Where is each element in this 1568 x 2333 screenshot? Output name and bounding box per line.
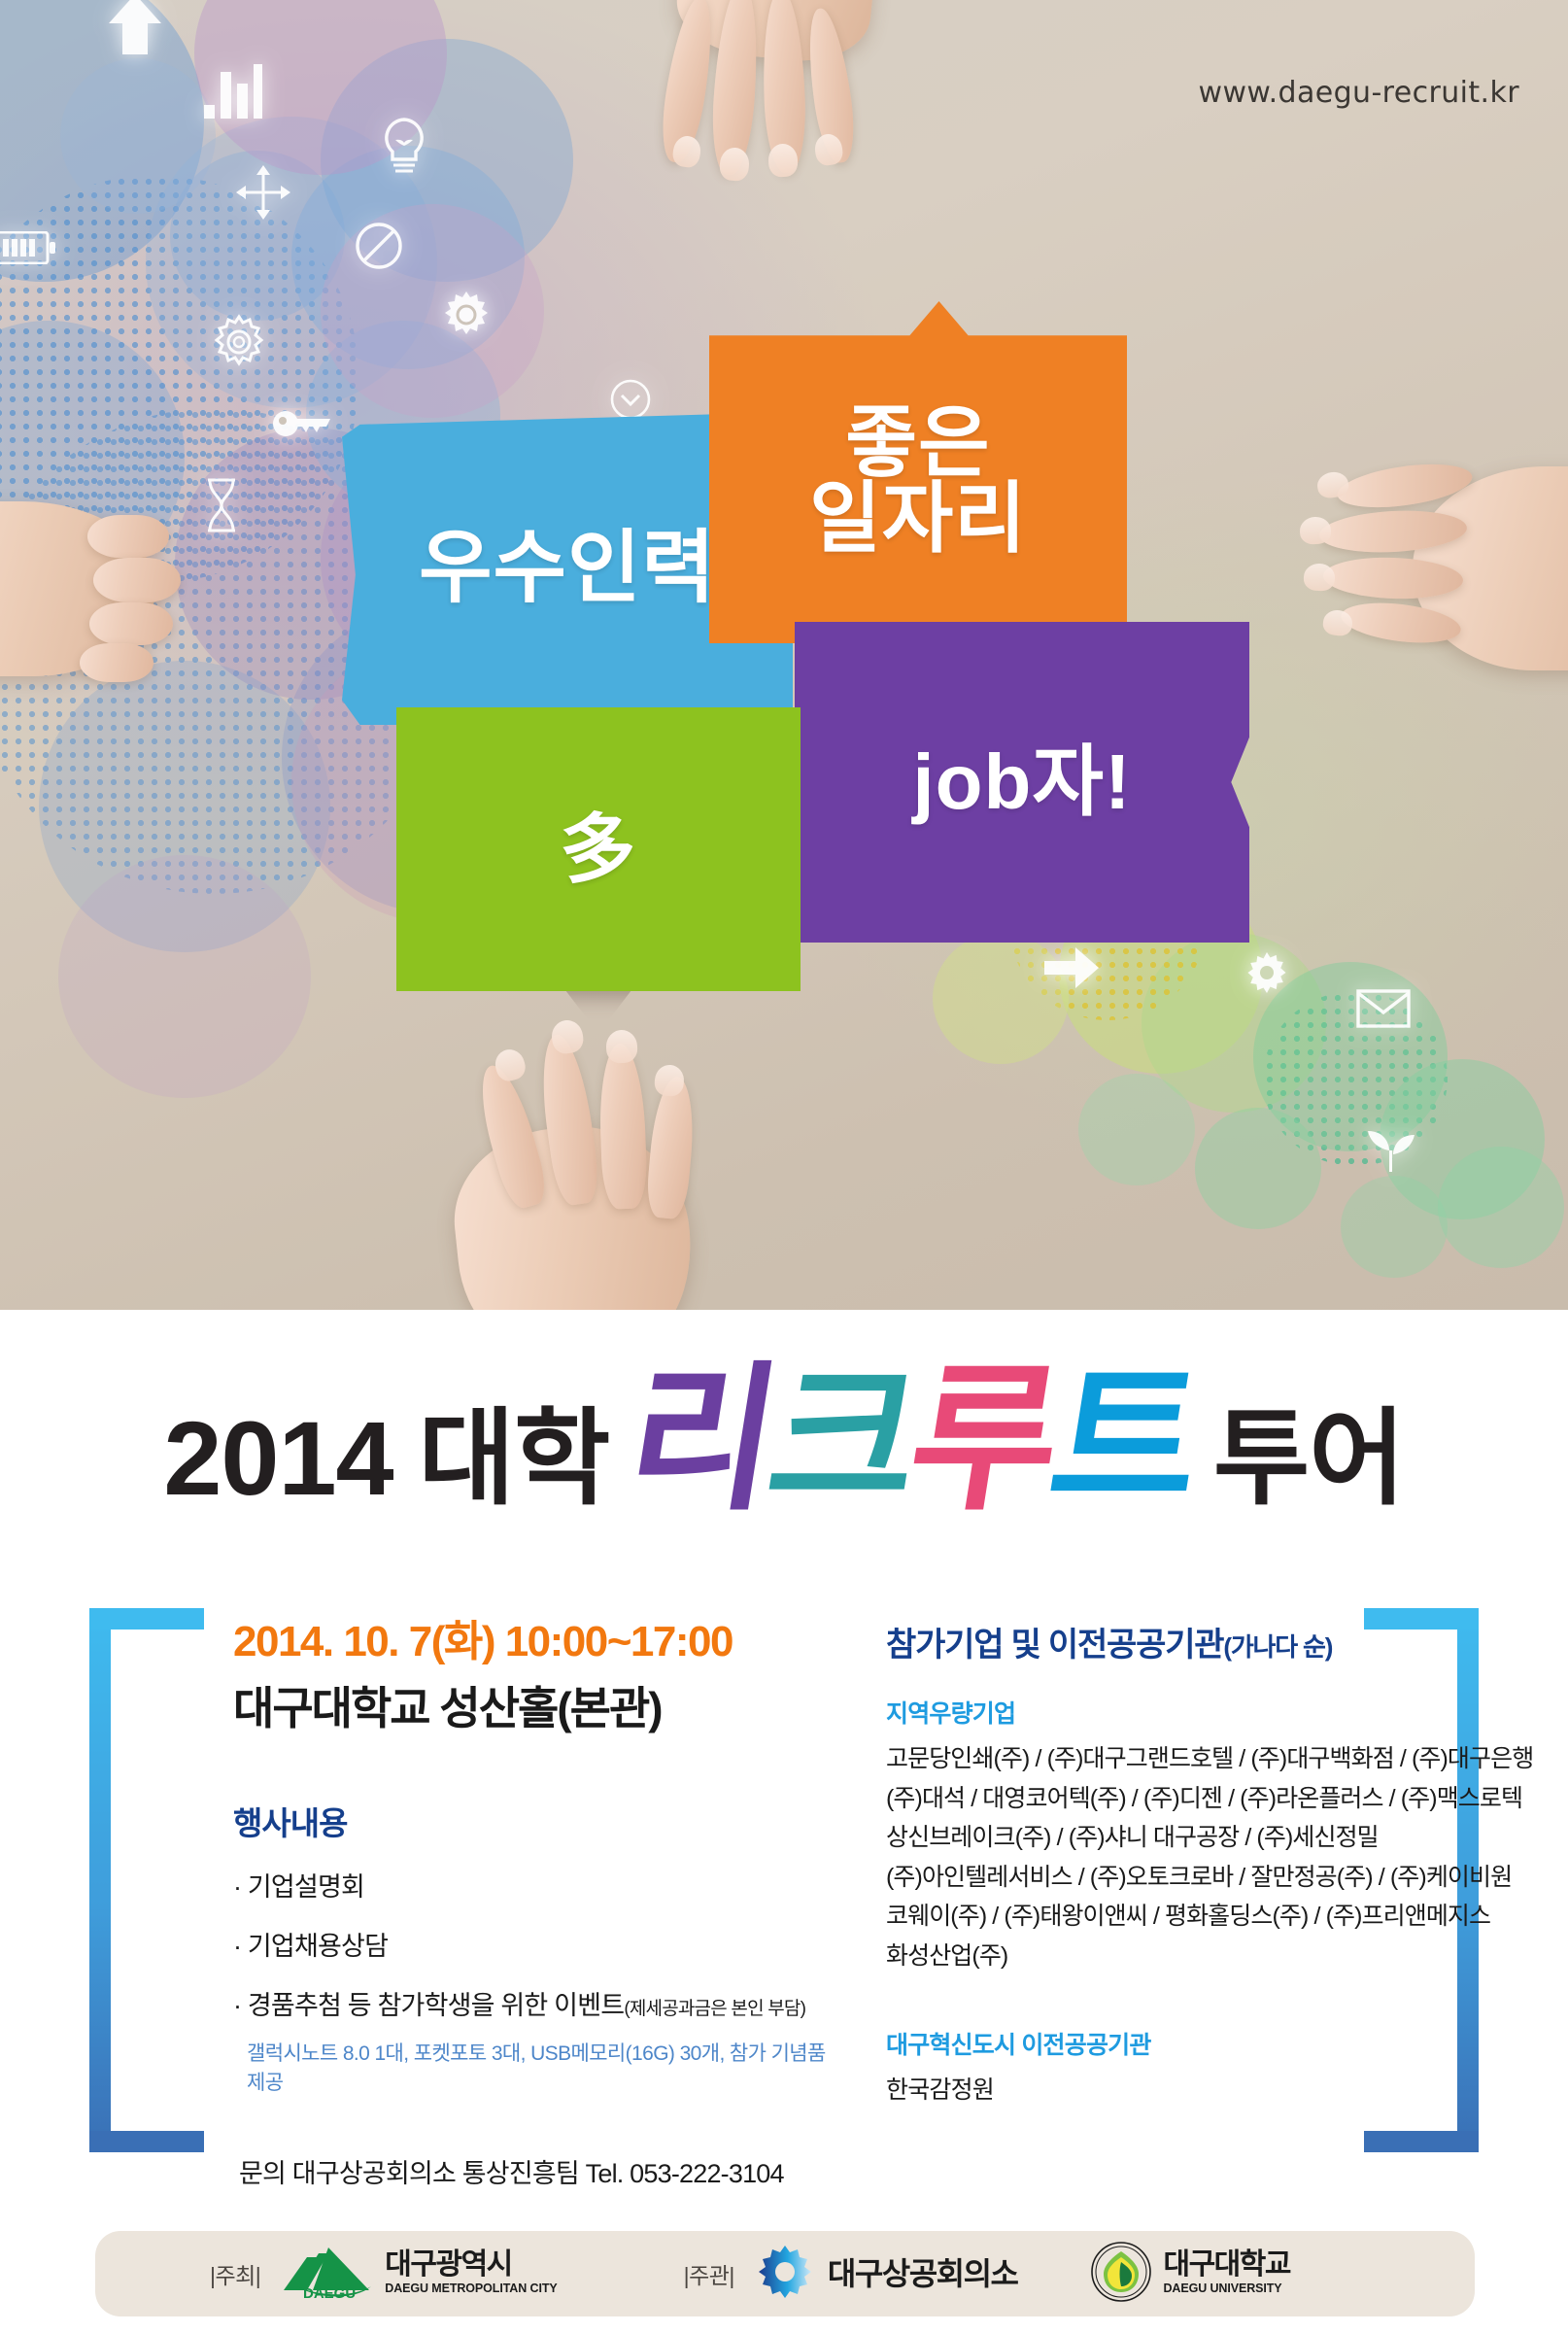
host-label: |주최| <box>210 2257 260 2290</box>
dcci-logo: 대구상공회의소 <box>754 2244 1018 2305</box>
move-arrows-icon <box>236 165 290 220</box>
info-panel: 2014. 10. 7(화) 10:00~17:00 대구대학교 성산홀(본관)… <box>89 1608 1479 2152</box>
bubble-text-orange-line1: 좋은 <box>809 405 1027 481</box>
hand-left-fist <box>0 482 262 696</box>
hand-bottom <box>427 1011 777 1310</box>
bokeh-circle <box>1438 1147 1564 1268</box>
public-orgs-heading: 대구혁신도시 이전공공기관 <box>886 2026 1440 2061</box>
envelope-icon <box>1356 989 1411 1028</box>
title-letter-2: 크 <box>759 1360 925 1520</box>
company-row: 상신브레이크(주) / (주)샤니 대구공장 / (주)세신정밀 <box>886 1818 1440 1858</box>
program-bullet-note: (제세공과금은 본인 부담) <box>624 1999 805 2019</box>
daegu-city-logo: DAEGU 대구광역시 DAEGU METROPOLITAN CITY <box>284 2244 557 2305</box>
bokeh-circle <box>1341 1176 1448 1278</box>
daegu-university-seal-icon <box>1091 2242 1151 2307</box>
hand-top-center <box>622 0 913 282</box>
bubble-text-blue: 우수인력 <box>419 530 716 607</box>
company-row: 화성산업(주) <box>886 1937 1440 1976</box>
local-companies-heading: 지역우량기업 <box>886 1695 1440 1730</box>
program-bullet-text: · 경품추첨 등 참가학생을 위한 이벤트 <box>233 1991 624 2020</box>
arrow-right-icon <box>1044 947 1099 988</box>
dcci-name-ko: 대구상공회의소 <box>828 2258 1018 2290</box>
gear-logo-icon <box>754 2244 816 2305</box>
participants-column: 참가기업 및 이전공공기관(가나다 순) 지역우량기업 고문당인쇄(주) / (… <box>886 1618 1440 2106</box>
footer-bar: |주최| DAEGU 대구광역시 DAEGU METROPOLITAN CITY… <box>95 2231 1475 2316</box>
bokeh-circle <box>1195 1108 1321 1229</box>
company-row: 코웨이(주) / (주)태왕이앤씨 / 평화홀딩스(주) / (주)프리앤메지스 <box>886 1897 1440 1937</box>
daegu-mountain-logo-icon: DAEGU <box>284 2244 373 2305</box>
chevron-down-icon <box>610 379 651 420</box>
battery-icon <box>0 231 56 264</box>
bokeh-circle <box>1078 1074 1195 1185</box>
daegu-city-logo-text: 대구광역시 DAEGU METROPOLITAN CITY <box>385 2250 557 2298</box>
program-bullet: · 기업채용상담 <box>233 1925 835 1963</box>
leaf-icon <box>1364 1125 1418 1174</box>
daegu-university-name-en: DAEGU UNIVERSITY <box>1163 2282 1281 2295</box>
speech-bubble-orange: 좋은 일자리 <box>709 301 1127 643</box>
speech-bubble-green: 多 <box>396 707 801 991</box>
title-year: 2014 <box>163 1397 392 1519</box>
poster-title: 2014대학리크루트투어 <box>0 1360 1568 1526</box>
program-bullet-text: · 기업설명회 <box>233 1872 364 1902</box>
daegu-city-name-en: DAEGU METROPOLITAN CITY <box>385 2282 557 2295</box>
bokeh-circle <box>60 58 216 214</box>
website-url[interactable]: www.daegu-recruit.kr <box>1199 76 1519 110</box>
company-row: (주)아인텔레서비스 / (주)오토크로바 / 잘만정공(주) / (주)케이비… <box>886 1858 1440 1898</box>
public-org-item: 한국감정원 <box>886 2071 1440 2106</box>
event-venue: 대구대학교 성산홀(본관) <box>233 1673 835 1737</box>
cog-icon <box>210 313 268 371</box>
bracket-left <box>89 1608 204 2152</box>
event-program-heading: 행사내용 <box>233 1798 835 1844</box>
lightbulb-leaf-icon <box>379 117 429 177</box>
event-details-column: 2014. 10. 7(화) 10:00~17:00 대구대학교 성산홀(본관)… <box>233 1618 835 2190</box>
daegu-university-name-ko: 대구대학교 <box>1163 2248 1290 2281</box>
arrow-up-icon <box>107 0 163 54</box>
svg-text:DAEGU: DAEGU <box>303 2285 356 2300</box>
bokeh-circle <box>58 855 311 1098</box>
gear-icon <box>443 292 490 338</box>
company-row: 고문당인쇄(주) / (주)대구그랜드호텔 / (주)대구백화점 / (주)대구… <box>886 1739 1440 1779</box>
event-date: 2014. 10. 7(화) 10:00~17:00 <box>233 1618 835 1667</box>
title-word-tour: 투어 <box>1213 1374 1405 1526</box>
daegu-city-name-ko: 대구광역시 <box>385 2248 512 2281</box>
hand-right <box>1267 457 1568 709</box>
title-letter-1: 리 <box>618 1360 784 1520</box>
organizer-label: |주관| <box>684 2257 734 2290</box>
participants-heading-suffix: (가나다 순) <box>1223 1632 1332 1662</box>
hero-photo: 우수인력 좋은 일자리 job자! 多 www.daegu-recruit.kr <box>0 0 1568 1310</box>
program-bullet-text: · 기업채용상담 <box>233 1932 388 1961</box>
bar-chart-icon <box>204 64 262 119</box>
participants-heading: 참가기업 및 이전공공기관(가나다 순) <box>886 1618 1440 1665</box>
company-list: 고문당인쇄(주) / (주)대구그랜드호텔 / (주)대구백화점 / (주)대구… <box>886 1739 1440 1975</box>
bubble-text-purple: job자! <box>912 744 1131 820</box>
daegu-university-logo: 대구대학교 DAEGU UNIVERSITY <box>1091 2242 1290 2307</box>
gift-prize-note: 갤럭시노트 8.0 1대, 포켓포토 3대, USB메모리(16G) 30개, … <box>247 2038 835 2096</box>
contact-info: 문의 대구상공회의소 통상진흥팀 Tel. 053-222-3104 <box>239 2152 835 2190</box>
title-letter-4: 트 <box>1040 1360 1207 1520</box>
key-icon <box>272 406 332 445</box>
gear-small-icon <box>1246 952 1287 993</box>
prohibition-icon <box>355 222 403 270</box>
bubble-text-orange-line2: 일자리 <box>809 481 1027 557</box>
company-row: (주)대석 / 대영코어텍(주) / (주)디젠 / (주)라온플러스 / (주… <box>886 1779 1440 1819</box>
participants-heading-main: 참가기업 및 이전공공기관 <box>886 1627 1223 1664</box>
daegu-university-logo-text: 대구대학교 DAEGU UNIVERSITY <box>1163 2250 1290 2298</box>
bubble-text-green: 多 <box>560 812 636 886</box>
title-word-univ: 대학 <box>419 1374 610 1526</box>
program-bullet: · 경품추첨 등 참가학생을 위한 이벤트(제세공과금은 본인 부담) <box>233 1984 835 2022</box>
title-letter-3: 루 <box>900 1360 1066 1520</box>
program-bullet: · 기업설명회 <box>233 1866 835 1904</box>
speech-bubble-purple: job자! <box>795 622 1249 943</box>
